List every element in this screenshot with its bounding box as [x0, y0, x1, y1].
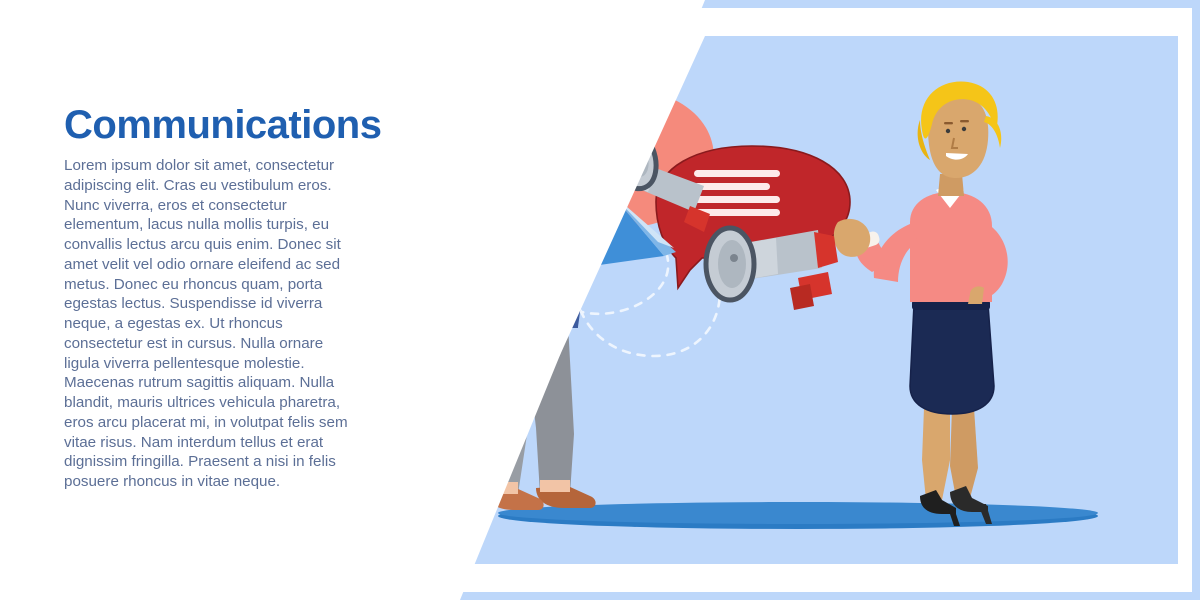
page-title: Communications [64, 104, 364, 146]
megaphone-right [706, 228, 838, 310]
woman-with-megaphone [834, 81, 1008, 526]
body-paragraph: Lorem ipsum dolor sit amet, consectetur … [64, 156, 354, 492]
communications-banner: Communications Lorem ipsum dolor sit ame… [0, 0, 1200, 600]
text-content: Communications Lorem ipsum dolor sit ame… [64, 104, 364, 492]
